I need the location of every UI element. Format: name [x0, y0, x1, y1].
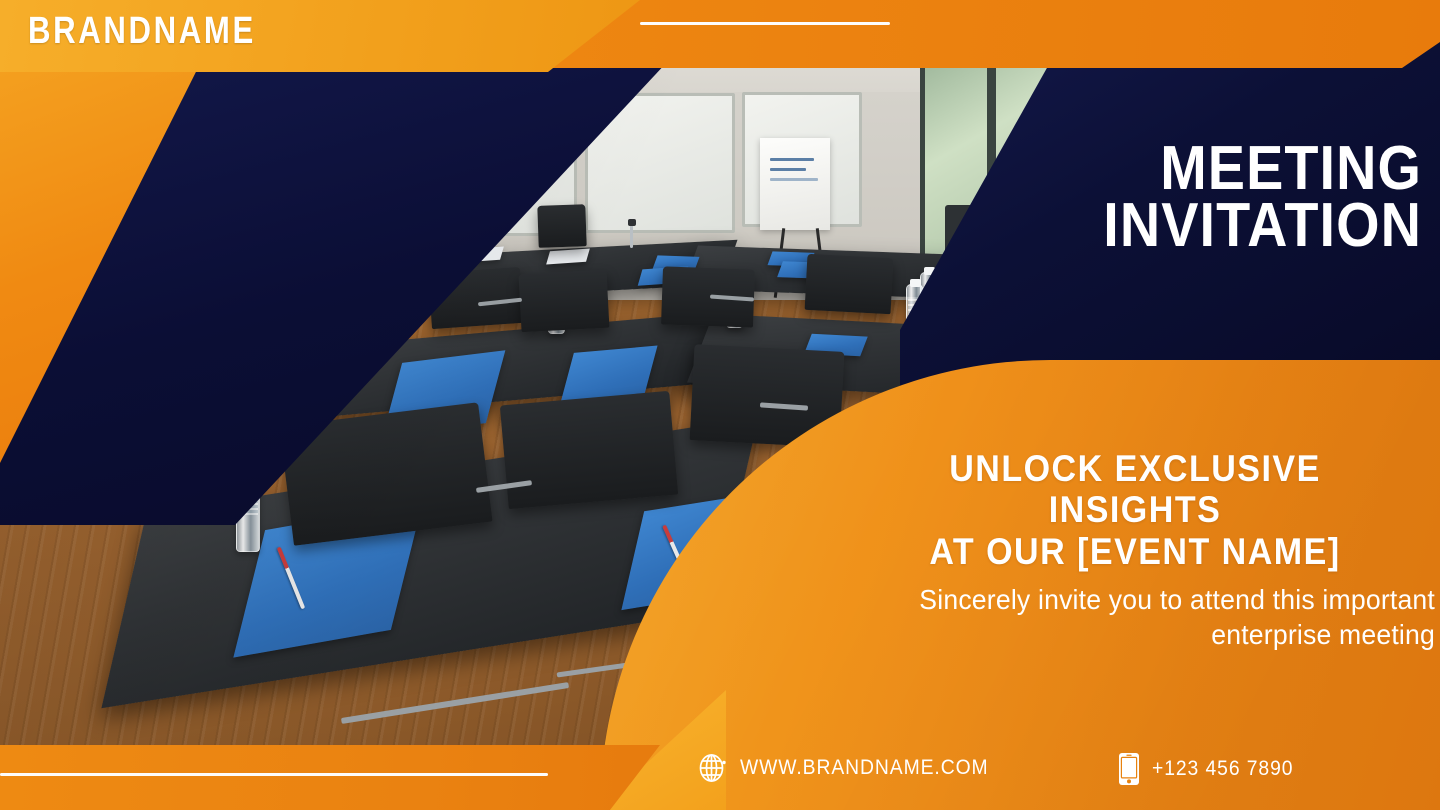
subtitle-line-1: Sincerely invite you to attend this impo… [822, 582, 1435, 617]
headline-line-2: AT OUR [EVENT NAME] [864, 531, 1407, 572]
phone-label: +123 456 7890 [1152, 757, 1293, 781]
header-rule [640, 22, 890, 25]
website-contact[interactable]: WWW.BRANDNAME.COM [698, 752, 1010, 784]
page-title: MEETING INVITATION [972, 140, 1422, 254]
subtitle: Sincerely invite you to attend this impo… [822, 582, 1435, 653]
footer-band [0, 745, 700, 810]
title-line-2: INVITATION [972, 197, 1422, 254]
chair [519, 270, 610, 333]
subtitle-line-2: enterprise meeting [822, 617, 1435, 652]
phone-contact[interactable]: +123 456 7890 [1118, 752, 1306, 786]
chair [500, 391, 678, 509]
brand-logo-text: BRANDNAME [28, 10, 256, 53]
chair [537, 204, 586, 248]
globe-icon [698, 752, 728, 784]
smartphone-icon [1118, 752, 1140, 786]
flip-chart [760, 138, 830, 230]
headline: UNLOCK EXCLUSIVE INSIGHTS AT OUR [EVENT … [864, 448, 1407, 572]
meeting-invitation-poster: BRANDNAME MEETING INVITATION UNLOCK EXCL… [0, 0, 1440, 810]
chair [805, 254, 894, 314]
headline-line-1: UNLOCK EXCLUSIVE INSIGHTS [864, 448, 1407, 531]
website-label: WWW.BRANDNAME.COM [740, 756, 989, 780]
footer-rule [0, 773, 548, 776]
title-line-1: MEETING [972, 140, 1422, 197]
